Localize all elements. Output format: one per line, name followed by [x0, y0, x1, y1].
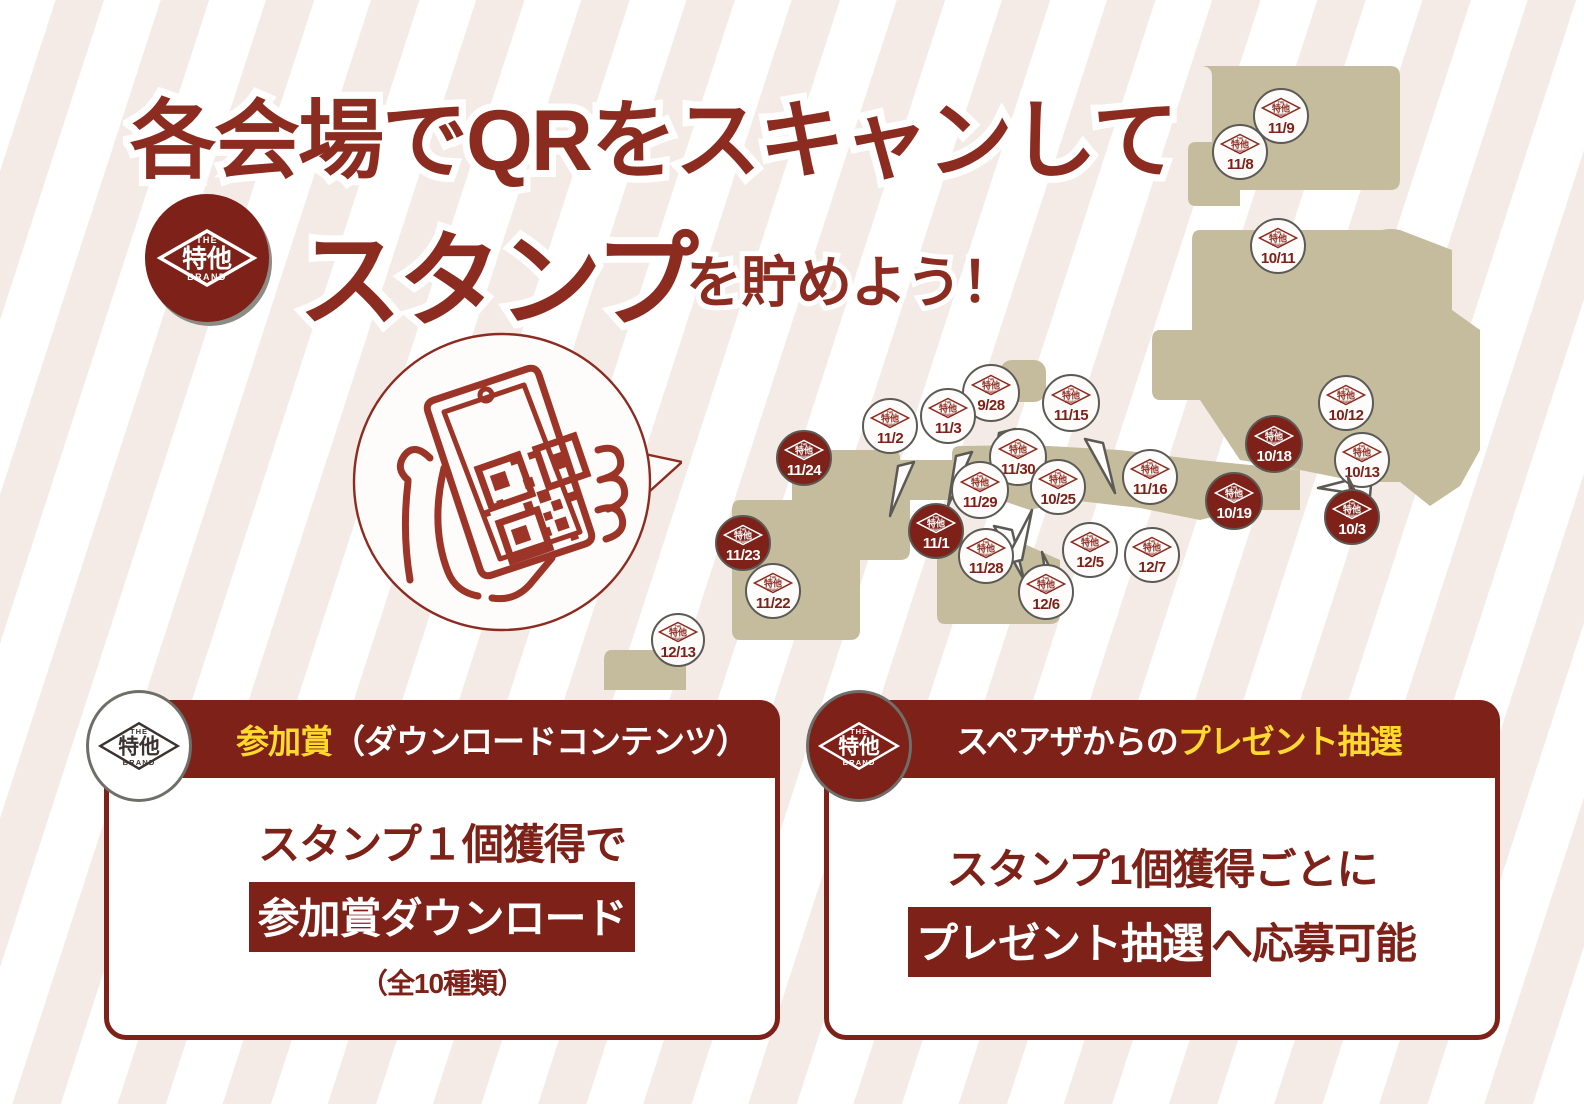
stamp-diamond-icon: THE特他BRAND — [1326, 384, 1366, 406]
stamp-diamond-icon: THE特他BRAND — [998, 438, 1038, 460]
map-pin-bubble: THE特他BRAND11/24 — [776, 430, 832, 486]
stamp-diamond-icon: THE特他BRAND — [1051, 384, 1091, 406]
map-pin-10-3[interactable]: THE特他BRAND10/3 — [1324, 489, 1380, 545]
stamp-diamond-icon: THE特他BRAND — [784, 439, 824, 461]
map-pin-date: 11/28 — [969, 561, 1003, 576]
map-pin-11-3[interactable]: THE特他BRAND11/3 — [920, 388, 976, 444]
card2-brand-logo-icon: THE 特他 BRAND — [809, 693, 909, 799]
map-pin-date: 11/8 — [1227, 157, 1253, 172]
map-pin-10-25[interactable]: THE特他BRAND10/25 — [1030, 459, 1086, 515]
card1-body: スタンプ１個獲得で 参加賞ダウンロード （全10種類） — [109, 778, 775, 1035]
map-pin-bubble: THE特他BRAND11/22 — [745, 563, 801, 619]
card2-header-text: スペアザからのプレゼント抽選 — [956, 715, 1402, 763]
stamp-diamond-icon: THE特他BRAND — [1132, 536, 1172, 558]
svg-text:BRAND: BRAND — [1052, 484, 1064, 488]
map-pin-bubble: THE特他BRAND12/7 — [1124, 527, 1180, 583]
present-lottery-card[interactable]: スペアザからのプレゼント抽選 スタンプ1個獲得ごとに プレゼント抽選へ応募可能 — [824, 700, 1500, 1040]
stamp-diamond-icon: THE特他BRAND — [1038, 468, 1078, 490]
stamp-diamond-icon: THE特他BRAND — [1332, 498, 1372, 520]
card1-header-text: 参加賞（ダウンロードコンテンツ） — [236, 715, 748, 763]
map-pin-bubble: THE特他BRAND11/28 — [958, 528, 1014, 584]
svg-text:BRAND: BRAND — [930, 528, 942, 532]
map-pin-bubble: THE特他BRAND10/19 — [1205, 472, 1263, 530]
map-pin-date: 11/24 — [787, 463, 821, 478]
card1-header-yellow: 参加賞 — [236, 723, 332, 760]
map-pin-date: 12/13 — [660, 645, 695, 660]
svg-text:BRAND: BRAND — [1346, 514, 1358, 518]
map-pin-date: 10/19 — [1216, 506, 1251, 521]
card2-line-2: プレゼント抽選へ応募可能 — [908, 907, 1416, 977]
map-pin-bubble: THE特他BRAND10/25 — [1030, 459, 1086, 515]
card2-header-white: スペアザからの — [956, 723, 1178, 760]
map-pin-date: 10/18 — [1256, 449, 1291, 464]
map-pin-11-8[interactable]: THE特他BRAND11/8 — [1212, 124, 1268, 180]
svg-text:特他: 特他 — [118, 735, 160, 759]
stamp-diamond-icon: THE特他BRAND — [1026, 573, 1066, 595]
svg-text:BRAND: BRAND — [1340, 400, 1352, 404]
stamp-diamond-icon: THE特他BRAND — [966, 537, 1006, 559]
brand-logo-badge: THE 特他 BRAND — [145, 194, 269, 322]
stamp-diamond-icon: THE特他BRAND — [1342, 441, 1382, 463]
map-pin-date: 11/2 — [877, 431, 903, 446]
map-pin-bubble: THE特他BRAND11/3 — [920, 388, 976, 444]
card2-line-2-highlight: プレゼント抽選 — [908, 907, 1211, 977]
card1-line-3: （全10種類） — [360, 962, 524, 1002]
svg-text:BRAND: BRAND — [737, 540, 749, 544]
stamp-diamond-icon: THE特他BRAND — [723, 524, 763, 546]
map-pin-11-1[interactable]: THE特他BRAND11/1 — [908, 503, 964, 559]
card2-body: スタンプ1個獲得ごとに プレゼント抽選へ応募可能 — [829, 778, 1495, 1035]
card1-line-1: スタンプ１個獲得で — [258, 811, 626, 872]
svg-text:BRAND: BRAND — [1012, 454, 1024, 458]
map-pin-date: 10/11 — [1261, 251, 1295, 266]
qr-illustration-svg — [352, 332, 682, 632]
svg-text:BRAND: BRAND — [974, 487, 986, 491]
stamp-diamond-icon: THE特他BRAND — [1261, 97, 1301, 119]
stamp-diamond-icon: THE特他BRAND — [1220, 133, 1260, 155]
svg-text:BRAND: BRAND — [1268, 441, 1280, 445]
map-pin-12-6[interactable]: THE特他BRAND12/6 — [1018, 564, 1074, 620]
qr-scan-illustration-bubble — [352, 332, 652, 632]
map-pin-bubble: THE特他BRAND11/2 — [862, 398, 918, 454]
stamp-diamond-icon: THE特他BRAND — [971, 374, 1011, 396]
map-pin-date: 10/25 — [1040, 492, 1075, 507]
svg-text:BRAND: BRAND — [980, 553, 992, 557]
stamp-diamond-icon: THE特他BRAND — [1214, 482, 1254, 504]
card2-header-yellow: プレゼント抽選 — [1178, 723, 1402, 760]
map-pin-date: 11/16 — [1133, 482, 1167, 497]
headline-stamp-word: スタンプ — [298, 196, 695, 347]
map-pin-10-11[interactable]: THE特他BRAND10/11 — [1250, 218, 1306, 274]
card2-line-1: スタンプ1個獲得ごとに — [946, 836, 1377, 897]
card1-brand-logo-icon: THE 特他 BRAND — [89, 693, 189, 799]
card2-logo-badge: THE 特他 BRAND — [806, 690, 912, 802]
svg-text:BRAND: BRAND — [187, 272, 227, 282]
map-pin-11-16[interactable]: THE特他BRAND11/16 — [1122, 449, 1178, 505]
map-pin-bubble: THE特他BRAND11/15 — [1042, 374, 1100, 432]
stamp-diamond-icon: THE特他BRAND — [916, 512, 956, 534]
map-pin-date: 11/1 — [923, 536, 949, 551]
map-pin-10-12[interactable]: THE特他BRAND10/12 — [1318, 375, 1374, 431]
svg-text:BRAND: BRAND — [1228, 498, 1240, 502]
svg-text:BRAND: BRAND — [985, 390, 997, 394]
svg-text:BRAND: BRAND — [123, 758, 156, 767]
map-pin-11-2[interactable]: THE特他BRAND11/2 — [862, 398, 918, 454]
map-pin-date: 11/3 — [935, 421, 961, 436]
map-pin-bubble: THE特他BRAND12/6 — [1018, 564, 1074, 620]
svg-text:BRAND: BRAND — [843, 758, 876, 767]
map-pin-date: 11/15 — [1054, 408, 1088, 423]
svg-text:BRAND: BRAND — [1234, 149, 1246, 153]
svg-text:BRAND: BRAND — [942, 413, 954, 417]
headline-tail-word: を貯めよう！ — [686, 238, 1016, 319]
card2-line-2-suffix: へ応募可能 — [1211, 920, 1416, 967]
svg-text:BRAND: BRAND — [767, 588, 779, 592]
svg-text:BRAND: BRAND — [1356, 457, 1368, 461]
card1-header-bar: 参加賞（ダウンロードコンテンツ） — [104, 700, 780, 778]
svg-text:BRAND: BRAND — [884, 423, 896, 427]
svg-text:特他: 特他 — [838, 735, 880, 759]
map-pin-bubble: THE特他BRAND10/18 — [1245, 415, 1303, 473]
svg-text:BRAND: BRAND — [1272, 243, 1284, 247]
map-pin-date: 9/28 — [977, 398, 1004, 413]
stamp-diamond-icon: THE特他BRAND — [928, 397, 968, 419]
svg-text:BRAND: BRAND — [1065, 400, 1077, 404]
card1-line-2-highlight: 参加賞ダウンロード — [249, 882, 634, 952]
svg-text:BRAND: BRAND — [1144, 474, 1156, 478]
map-pin-bubble: THE特他BRAND11/16 — [1122, 449, 1178, 505]
map-pin-11-28[interactable]: THE特他BRAND11/28 — [958, 528, 1014, 584]
poster-canvas: 各会場でQRをスキャンして スタンプ を貯めよう！ THE 特他 BRAND — [0, 0, 1584, 1104]
stamp-diamond-icon: THE特他BRAND — [1130, 458, 1170, 480]
map-pin-bubble: THE特他BRAND10/12 — [1318, 375, 1374, 431]
map-pin-date: 12/6 — [1032, 597, 1059, 612]
stamp-diamond-icon: THE特他BRAND — [1254, 425, 1294, 447]
participation-prize-card[interactable]: 参加賞（ダウンロードコンテンツ） スタンプ１個獲得で 参加賞ダウンロード （全1… — [104, 700, 780, 1040]
svg-text:BRAND: BRAND — [1275, 113, 1287, 117]
stamp-diamond-icon: THE特他BRAND — [960, 471, 1000, 493]
map-pin-bubble: THE特他BRAND10/11 — [1250, 218, 1306, 274]
stamp-diamond-icon: THE特他BRAND — [870, 407, 910, 429]
map-pin-11-15[interactable]: THE特他BRAND11/15 — [1042, 374, 1100, 432]
brand-logo-icon: THE 特他 BRAND — [145, 194, 269, 322]
map-pin-10-19[interactable]: THE特他BRAND10/19 — [1205, 472, 1263, 530]
svg-text:特他: 特他 — [182, 244, 232, 273]
map-pin-bubble: THE特他BRAND10/3 — [1324, 489, 1380, 545]
map-pin-11-24[interactable]: THE特他BRAND11/24 — [776, 430, 832, 486]
svg-text:BRAND: BRAND — [798, 455, 810, 459]
map-pin-date: 10/12 — [1328, 408, 1363, 423]
map-pin-date: 11/22 — [756, 596, 790, 611]
map-pin-12-7[interactable]: THE特他BRAND12/7 — [1124, 527, 1180, 583]
map-pin-bubble: THE特他BRAND11/1 — [908, 503, 964, 559]
card1-logo-badge: THE 特他 BRAND — [86, 690, 192, 802]
stamp-diamond-icon: THE特他BRAND — [753, 572, 793, 594]
svg-text:BRAND: BRAND — [1146, 552, 1158, 556]
stamp-diamond-icon: THE特他BRAND — [1258, 227, 1298, 249]
map-pin-11-22[interactable]: THE特他BRAND11/22 — [745, 563, 801, 619]
map-pin-date: 10/3 — [1338, 522, 1365, 537]
map-pin-date: 12/7 — [1138, 560, 1165, 575]
card1-header-white: （ダウンロードコンテンツ） — [332, 723, 748, 760]
svg-text:BRAND: BRAND — [1040, 589, 1052, 593]
map-pin-date: 11/29 — [963, 495, 997, 510]
map-pin-bubble: THE特他BRAND11/8 — [1212, 124, 1268, 180]
headline-line-1: 各会場でQRをスキャンして — [130, 70, 1176, 195]
map-pin-date: 11/9 — [1268, 121, 1294, 136]
card2-header-bar: スペアザからのプレゼント抽選 — [824, 700, 1500, 778]
map-pin-date: 11/23 — [726, 548, 760, 563]
svg-text:BRAND: BRAND — [672, 637, 684, 641]
map-pin-10-18[interactable]: THE特他BRAND10/18 — [1245, 415, 1303, 473]
